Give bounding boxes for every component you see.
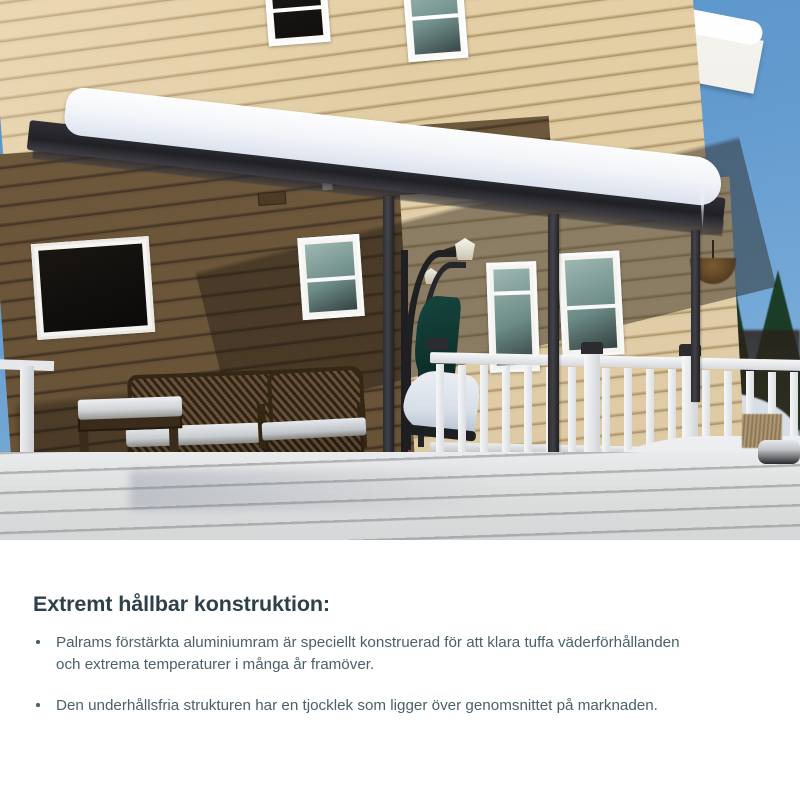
feature-bullet-list: Palrams förstärkta aluminiumram är speci… [33,632,693,717]
window-glass [38,243,147,332]
section-heading: Extremt hållbar konstruktion: [33,592,330,617]
railing-baluster [568,367,576,455]
railing-post-cap [426,338,448,350]
railing-baluster [458,365,466,453]
upper-window-left [263,0,331,46]
feature-bullet-item: Den underhållsfria strukturen har en tjo… [33,695,693,717]
railing-baluster [436,364,444,452]
railing-baluster [502,366,510,454]
promo-page: Extremt hållbar konstruktion: Palrams fö… [0,0,800,800]
feature-bullet-item: Palrams förstärkta aluminiumram är speci… [33,632,693,676]
lower-window-middle [297,234,365,320]
railing-post-cap [581,342,603,354]
feature-bullet-text: Den underhållsfria strukturen har en tjo… [56,697,658,714]
feature-bullet-text: Palrams förstärkta aluminiumram är speci… [56,634,680,673]
deck-shadow [130,470,650,510]
bullet-dot-icon [36,640,40,644]
patio-table-top-snow [78,396,183,420]
text-panel: Extremt hållbar konstruktion: Palrams fö… [0,540,800,800]
planter-hanger [712,240,714,260]
covered-grill [758,440,800,464]
upper-window-right [402,0,469,62]
window-glass [409,0,461,55]
wall-mail-slot [258,191,287,206]
railing-baluster [624,368,632,456]
railing-baluster [602,368,610,456]
lower-window-left [31,236,155,340]
awning-support-post [691,230,700,402]
bullet-dot-icon [36,703,40,707]
hero-photo [0,0,800,540]
railing-baluster [480,365,488,453]
railing-baluster [524,366,532,454]
